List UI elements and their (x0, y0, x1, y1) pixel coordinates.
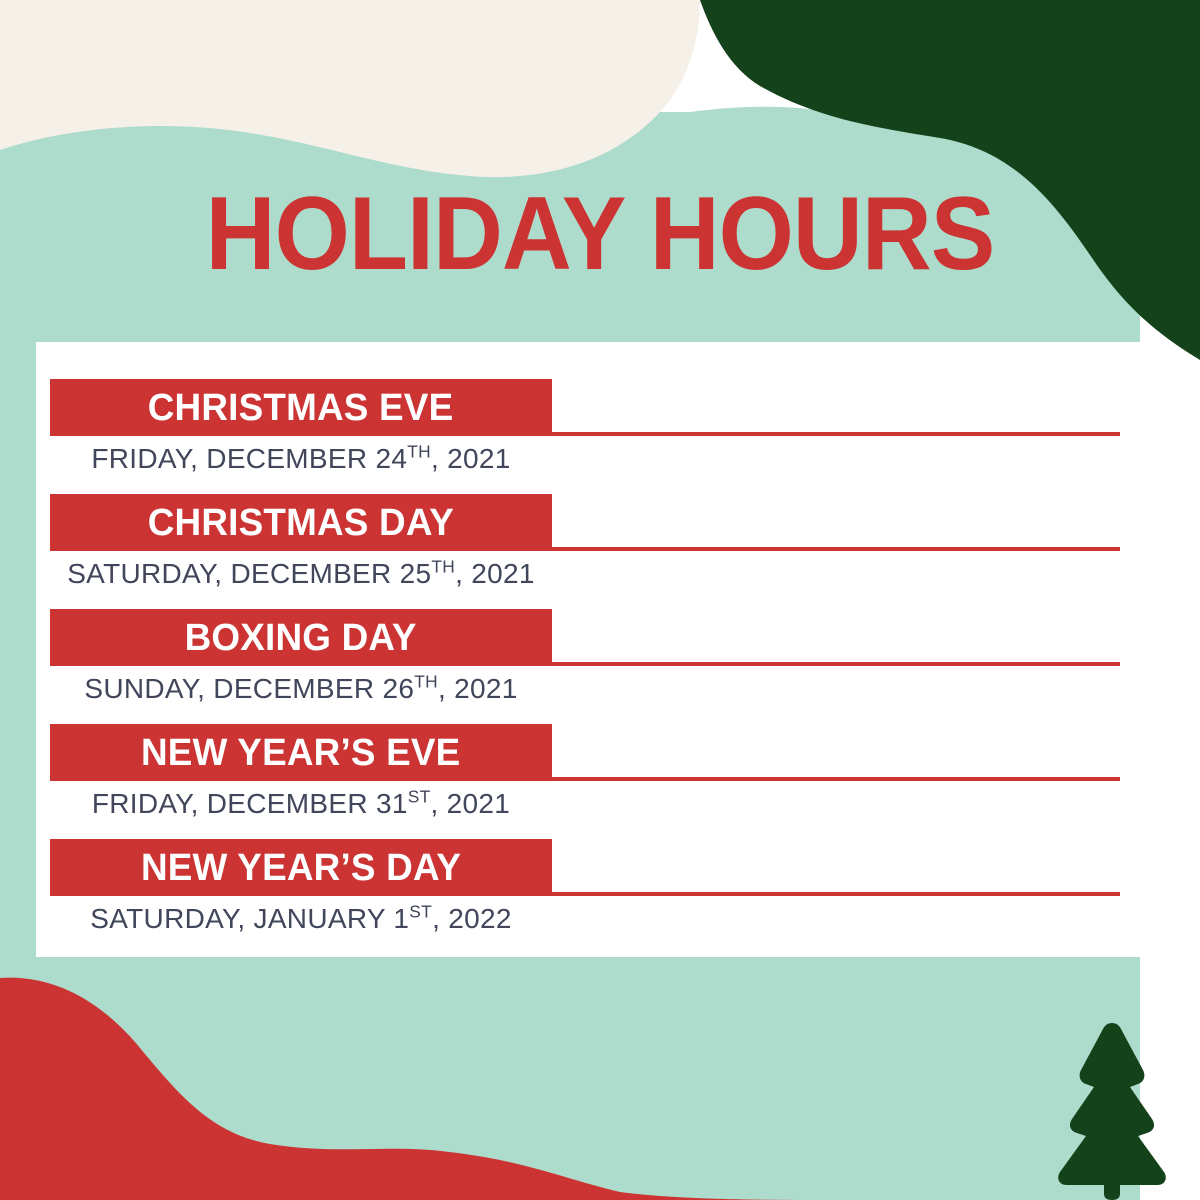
holiday-date: SATURDAY, DECEMBER 25TH, 2021 (50, 554, 552, 594)
hours-row: BOXING DAY SUNDAY, DECEMBER 26TH, 2021 (36, 609, 1164, 724)
hours-row: CHRISTMAS EVE FRIDAY, DECEMBER 24TH, 202… (36, 379, 1164, 494)
holiday-hours-poster: HOLIDAY HOURS CHRISTMAS EVE FRIDAY, DECE… (0, 0, 1200, 1200)
hours-entry-rule[interactable] (552, 547, 1120, 551)
title-block: HOLIDAY HOURS (0, 182, 1200, 286)
holiday-date-ordinal: ST (409, 902, 432, 922)
hours-row: NEW YEAR’S DAY SATURDAY, JANUARY 1ST, 20… (36, 839, 1164, 954)
holiday-date: SUNDAY, DECEMBER 26TH, 2021 (50, 669, 552, 709)
holiday-date-day: 26 (382, 673, 414, 704)
holiday-date-weekday: FRIDAY, DECEMBER (92, 788, 376, 819)
hours-entry-rule[interactable] (552, 432, 1120, 436)
holiday-name-label: NEW YEAR’S DAY (141, 849, 461, 887)
hours-entry-rule[interactable] (552, 777, 1120, 781)
hours-row: NEW YEAR’S EVE FRIDAY, DECEMBER 31ST, 20… (36, 724, 1164, 839)
holiday-name-label: CHRISTMAS EVE (148, 389, 454, 427)
holiday-date-ordinal: TH (407, 442, 431, 462)
holiday-date-day: 31 (376, 788, 408, 819)
holiday-name-banner: NEW YEAR’S EVE (50, 724, 552, 781)
holiday-date: FRIDAY, DECEMBER 24TH, 2021 (50, 439, 552, 479)
holiday-date-ordinal: TH (414, 672, 438, 692)
hours-card: CHRISTMAS EVE FRIDAY, DECEMBER 24TH, 202… (36, 342, 1164, 957)
holiday-date-year: , 2021 (431, 788, 511, 819)
hours-row: CHRISTMAS DAY SATURDAY, DECEMBER 25TH, 2… (36, 494, 1164, 609)
holiday-date-year: , 2021 (455, 558, 535, 589)
holiday-date-ordinal: ST (408, 787, 431, 807)
holiday-name-label: NEW YEAR’S EVE (141, 734, 461, 772)
hours-entry-rule[interactable] (552, 662, 1120, 666)
holiday-date-weekday: FRIDAY, DECEMBER (91, 443, 375, 474)
holiday-name-label: CHRISTMAS DAY (148, 504, 454, 542)
holiday-date-year: , 2021 (438, 673, 518, 704)
holiday-date-year: , 2021 (431, 443, 511, 474)
holiday-date-weekday: SUNDAY, DECEMBER (84, 673, 382, 704)
holiday-name-label: BOXING DAY (185, 619, 417, 657)
holiday-name-banner: NEW YEAR’S DAY (50, 839, 552, 896)
holiday-date-day: 1 (393, 903, 409, 934)
holiday-date-weekday: SATURDAY, DECEMBER (67, 558, 399, 589)
holiday-name-banner: CHRISTMAS EVE (50, 379, 552, 436)
holiday-name-banner: BOXING DAY (50, 609, 552, 666)
holiday-date-ordinal: TH (431, 557, 455, 577)
holiday-date: SATURDAY, JANUARY 1ST, 2022 (50, 899, 552, 939)
holiday-date-day: 25 (400, 558, 432, 589)
page-title: HOLIDAY HOURS (42, 182, 1158, 286)
holiday-name-banner: CHRISTMAS DAY (50, 494, 552, 551)
holiday-date: FRIDAY, DECEMBER 31ST, 2021 (50, 784, 552, 824)
holiday-date-day: 24 (375, 443, 407, 474)
holiday-date-weekday: SATURDAY, JANUARY (90, 903, 393, 934)
holiday-date-year: , 2022 (432, 903, 512, 934)
hours-list: CHRISTMAS EVE FRIDAY, DECEMBER 24TH, 202… (36, 342, 1164, 957)
hours-entry-rule[interactable] (552, 892, 1120, 896)
